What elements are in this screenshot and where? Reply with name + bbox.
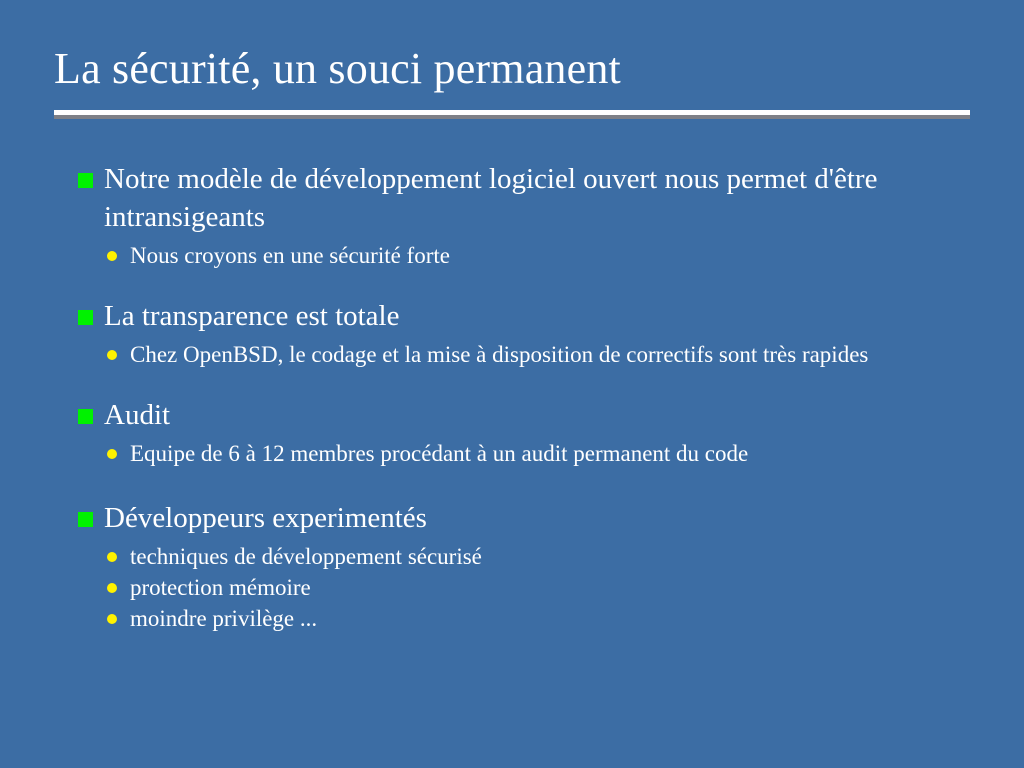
bullet-level1-label: La transparence est totale [104, 300, 399, 332]
bullet-level2-list: Equipe de 6 à 12 membres procédant à un … [76, 438, 976, 469]
bullet-level1-item: Notre modèle de développement logiciel o… [76, 160, 976, 236]
bullet-level1-label: Développeurs experimentés [104, 502, 427, 534]
slide-body: Notre modèle de développement logiciel o… [76, 160, 976, 634]
bullet-group-1: Notre modèle de développement logiciel o… [76, 160, 976, 271]
slide-title-block: La sécurité, un souci permanent [54, 42, 970, 96]
bullet-level2-item: Nous croyons en une sécurité forte [76, 240, 976, 271]
green-square-bullet-icon [78, 409, 93, 424]
yellow-dot-bullet-icon [107, 614, 117, 624]
bullet-level2-item: techniques de développement sécurisé [76, 541, 976, 572]
bullet-level1-item: Développeurs experimentés [76, 499, 976, 537]
green-square-bullet-icon [78, 310, 93, 325]
bullet-level2-label: protection mémoire [130, 572, 976, 603]
bullet-level1-item: Audit [76, 396, 976, 434]
yellow-dot-bullet-icon [107, 552, 117, 562]
green-square-bullet-icon [78, 512, 93, 527]
page-title: La sécurité, un souci permanent [54, 42, 970, 96]
bullet-level2-label: Equipe de 6 à 12 membres procédant à un … [130, 438, 976, 469]
bullet-level2-item: Equipe de 6 à 12 membres procédant à un … [76, 438, 976, 469]
yellow-dot-bullet-icon [107, 583, 117, 593]
yellow-dot-bullet-icon [107, 350, 117, 360]
bullet-level2-item: Chez OpenBSD, le codage et la mise à dis… [76, 339, 976, 370]
bullet-level1-item: La transparence est totale [76, 297, 976, 335]
bullet-level2-label: Chez OpenBSD, le codage et la mise à dis… [130, 339, 976, 370]
title-underline-shadow [54, 115, 970, 119]
bullet-level1-label: Notre modèle de développement logiciel o… [104, 163, 877, 233]
yellow-dot-bullet-icon [107, 251, 117, 261]
bullet-group-4: Développeurs experimentés techniques de … [76, 499, 976, 634]
bullet-level2-label: Nous croyons en une sécurité forte [130, 240, 976, 271]
bullet-level1-label: Audit [104, 399, 170, 431]
bullet-level2-list: Nous croyons en une sécurité forte [76, 240, 976, 271]
green-square-bullet-icon [78, 173, 93, 188]
presentation-slide: La sécurité, un souci permanent Notre mo… [0, 0, 1024, 768]
bullet-level2-list: techniques de développement sécurisé pro… [76, 541, 976, 634]
bullet-group-2: La transparence est totale Chez OpenBSD,… [76, 297, 976, 370]
bullet-level2-item: moindre privilège ... [76, 603, 976, 634]
bullet-group-3: Audit Equipe de 6 à 12 membres procédant… [76, 396, 976, 469]
bullet-level2-label: techniques de développement sécurisé [130, 541, 976, 572]
bullet-level2-list: Chez OpenBSD, le codage et la mise à dis… [76, 339, 976, 370]
bullet-level2-label: moindre privilège ... [130, 603, 976, 634]
bullet-level2-item: protection mémoire [76, 572, 976, 603]
yellow-dot-bullet-icon [107, 449, 117, 459]
